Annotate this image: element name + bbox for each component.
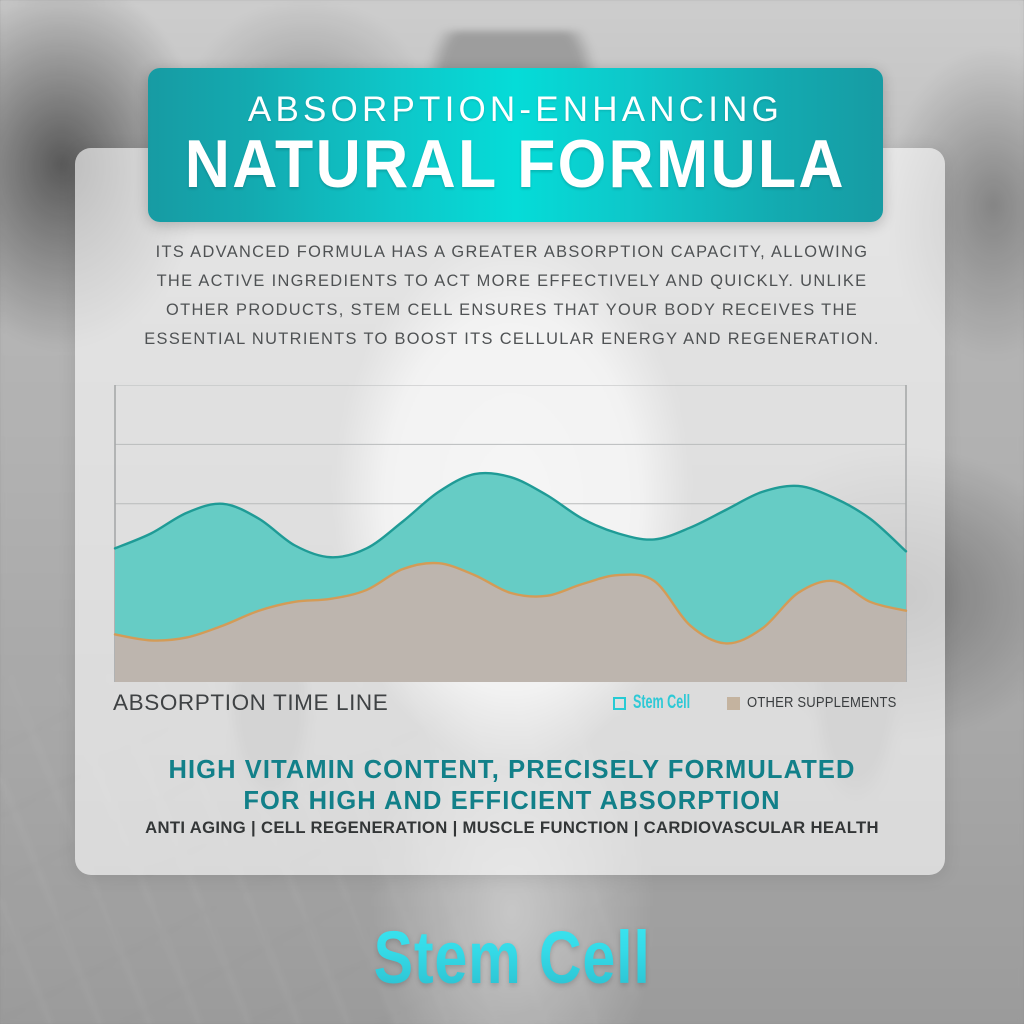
header-banner: ABSORPTION-ENHANCING NATURAL FORMULA	[148, 68, 883, 222]
chart-axis-label: ABSORPTION TIME LINE	[113, 690, 388, 716]
legend-item-stem-cell[interactable]: Stem Cell	[613, 692, 705, 714]
paragraph-line-3: OTHER PRODUCTS, STEM CELL ENSURES THAT Y…	[96, 296, 928, 325]
absorption-chart	[113, 385, 908, 682]
banner-headline-main: NATURAL FORMULA	[185, 130, 846, 198]
body-paragraph: ITS ADVANCED FORMULA HAS A GREATER ABSOR…	[96, 238, 928, 354]
benefits-list: ANTI AGING | CELL REGENERATION | MUSCLE …	[89, 818, 936, 838]
tagline-line-1: HIGH VITAMIN CONTENT, PRECISELY FORMULAT…	[96, 755, 928, 786]
legend-swatch-outline-icon	[613, 697, 626, 710]
tagline-line-2: FOR HIGH AND EFFICIENT ABSORPTION	[96, 786, 928, 817]
promo-infographic: ABSORPTION-ENHANCING NATURAL FORMULA ITS…	[0, 0, 1024, 1024]
chart-legend: Stem Cell OTHER SUPPLEMENTS	[613, 692, 913, 714]
legend-label-other-supplements: OTHER SUPPLEMENTS	[747, 695, 897, 711]
legend-item-other-supplements[interactable]: OTHER SUPPLEMENTS	[727, 695, 913, 711]
paragraph-line-4: ESSENTIAL NUTRIENTS TO BOOST ITS CELLULA…	[96, 325, 928, 354]
tagline-block: HIGH VITAMIN CONTENT, PRECISELY FORMULAT…	[96, 755, 928, 817]
chart-canvas	[113, 385, 908, 682]
chart-footer: ABSORPTION TIME LINE Stem Cell OTHER SUP…	[113, 686, 913, 720]
banner-headline-top: ABSORPTION-ENHANCING	[248, 92, 783, 129]
paragraph-line-2: THE ACTIVE INGREDIENTS TO ACT MORE EFFEC…	[96, 267, 928, 296]
brand-logo-text: Stem Cell	[373, 915, 650, 1000]
brand-logo: Stem Cell	[0, 915, 1024, 1000]
legend-swatch-solid-icon	[727, 697, 740, 710]
paragraph-line-1: ITS ADVANCED FORMULA HAS A GREATER ABSOR…	[96, 238, 928, 267]
legend-label-stem-cell: Stem Cell	[633, 692, 681, 714]
